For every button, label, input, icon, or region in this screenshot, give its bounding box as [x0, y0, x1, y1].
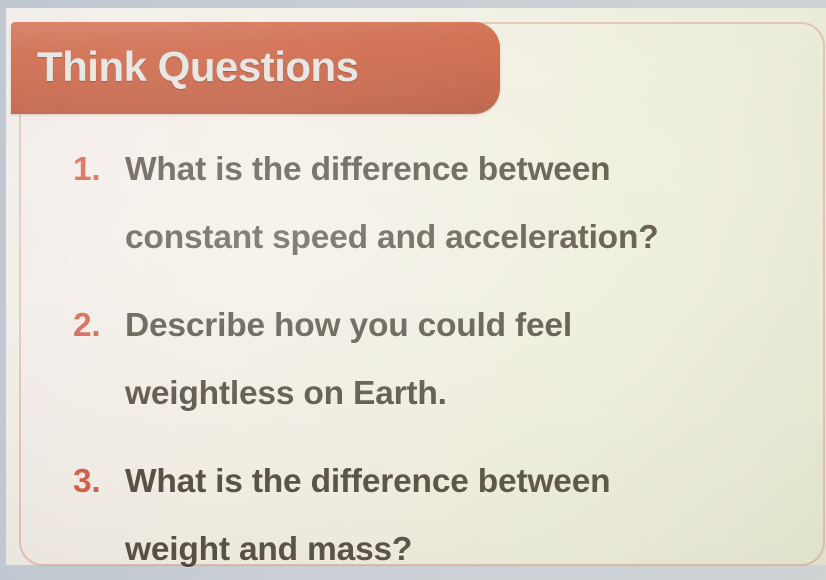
question-item-2: 2. Describe how you could feel weightles…: [73, 292, 821, 428]
question-2-line-1: Describe how you could feel: [125, 292, 821, 360]
textbook-page-sheet: Think Questions 1. What is the differenc…: [6, 8, 826, 565]
question-text-1: What is the difference between constant …: [125, 136, 821, 272]
page-root: Think Questions 1. What is the differenc…: [0, 0, 826, 580]
question-item-3: 3. What is the difference between weight…: [73, 448, 821, 580]
question-number-1: 1.: [73, 136, 117, 204]
question-list: 1. What is the difference between consta…: [73, 136, 821, 580]
question-3-line-2: weight and mass?: [125, 516, 821, 580]
question-1-line-1: What is the difference between: [125, 136, 821, 204]
question-text-2: Describe how you could feel weightless o…: [125, 292, 821, 428]
question-1-line-2: constant speed and acceleration?: [125, 204, 821, 272]
question-number-3: 3.: [73, 448, 117, 516]
think-questions-box: Think Questions 1. What is the differenc…: [19, 22, 825, 566]
question-2-line-2: weightless on Earth.: [125, 360, 821, 428]
question-number-2: 2.: [73, 292, 117, 360]
page-title: Think Questions: [37, 43, 359, 91]
question-item-1: 1. What is the difference between consta…: [73, 136, 821, 272]
think-questions-header-tab: Think Questions: [11, 22, 500, 114]
question-text-3: What is the difference between weight an…: [125, 448, 821, 580]
question-3-line-1: What is the difference between: [125, 448, 821, 516]
